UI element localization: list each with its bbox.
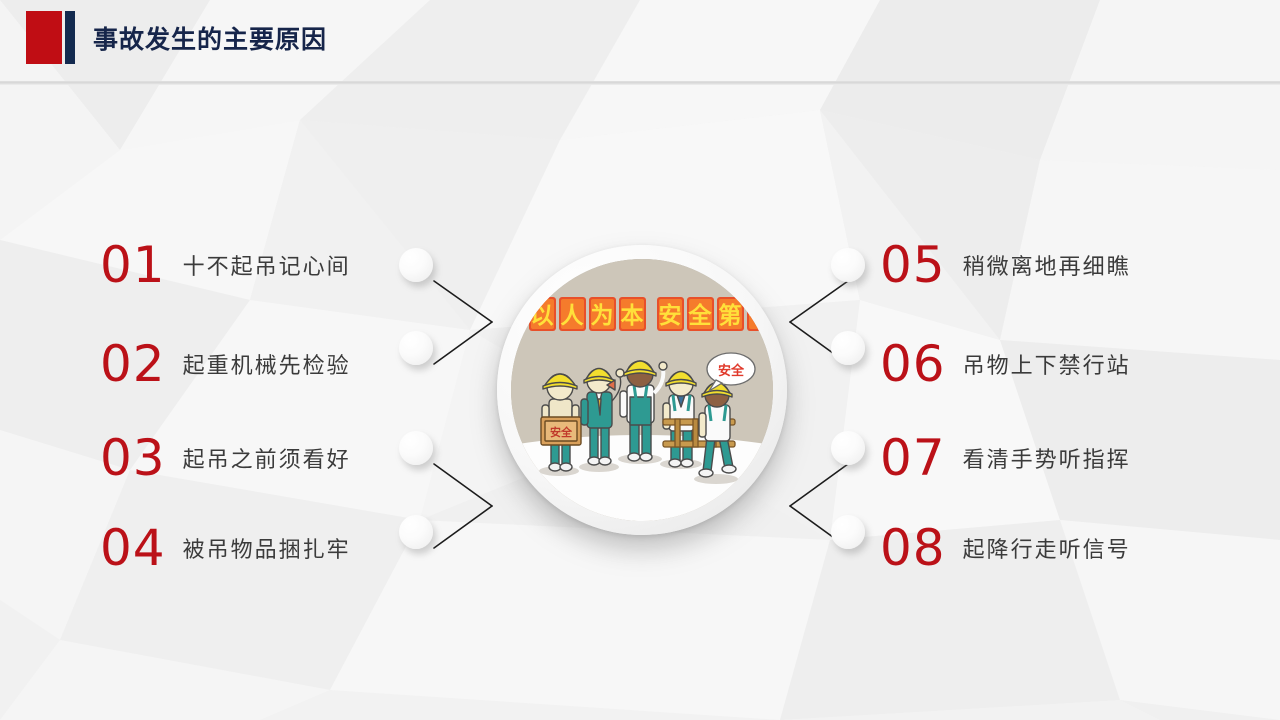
- bullet-node-04[interactable]: [399, 515, 433, 549]
- bullet-node-08[interactable]: [831, 515, 865, 549]
- item-number: 04: [100, 523, 166, 573]
- svg-text:本: 本: [621, 303, 644, 329]
- connector-line-04: [434, 506, 492, 548]
- connector-line-03: [434, 464, 492, 506]
- item-number: 08: [880, 523, 946, 573]
- svg-text:第: 第: [719, 302, 742, 329]
- bullet-node-07[interactable]: [831, 431, 865, 465]
- item-label: 起吊之前须看好: [183, 442, 351, 474]
- item-label: 起降行走听信号: [963, 532, 1131, 564]
- connector-line-02: [434, 322, 492, 364]
- svg-text:人: 人: [561, 303, 585, 329]
- connector-line-07: [790, 464, 848, 506]
- list-item-01[interactable]: 01 十不起吊记心间: [100, 232, 390, 298]
- item-number: 07: [880, 433, 946, 483]
- list-item-05[interactable]: 05 稍微离地再细瞧: [880, 232, 1180, 298]
- list-item-06[interactable]: 06 吊物上下禁行站: [880, 331, 1180, 397]
- svg-text:以: 以: [531, 303, 554, 329]
- item-label: 看清手势听指挥: [963, 442, 1131, 474]
- center-image-frame: 以 人 为 本 安 全 第 一: [511, 259, 773, 521]
- connector-line-05: [790, 281, 848, 322]
- item-number: 05: [880, 240, 946, 290]
- list-item-03[interactable]: 03 起吊之前须看好: [100, 425, 390, 491]
- item-number: 01: [100, 240, 166, 290]
- connector-line-01: [434, 281, 492, 322]
- list-item-02[interactable]: 02 起重机械先检验: [100, 331, 390, 397]
- list-item-08[interactable]: 08 起降行走听信号: [880, 515, 1180, 581]
- item-label: 稍微离地再细瞧: [963, 249, 1131, 281]
- item-label: 吊物上下禁行站: [963, 348, 1131, 380]
- svg-text:全: 全: [688, 302, 713, 329]
- bullet-node-03[interactable]: [399, 431, 433, 465]
- list-item-07[interactable]: 07 看清手势听指挥: [880, 425, 1180, 491]
- sign-text: 安全: [550, 425, 573, 439]
- bullet-node-02[interactable]: [399, 331, 433, 365]
- bullet-node-01[interactable]: [399, 248, 433, 282]
- center-medallion[interactable]: 以 人 为 本 安 全 第 一: [497, 245, 787, 535]
- item-label: 十不起吊记心间: [183, 249, 351, 281]
- item-label: 被吊物品捆扎牢: [183, 532, 351, 564]
- svg-text:一: 一: [749, 303, 772, 329]
- bullet-node-05[interactable]: [831, 248, 865, 282]
- item-number: 06: [880, 339, 946, 389]
- svg-text:为: 为: [591, 303, 614, 329]
- bubble-text: 安全: [718, 363, 745, 379]
- safety-illustration: 以 人 为 本 安 全 第 一: [511, 259, 773, 521]
- item-label: 起重机械先检验: [183, 348, 351, 380]
- svg-text:安: 安: [659, 302, 682, 329]
- bullet-node-06[interactable]: [831, 331, 865, 365]
- item-number: 03: [100, 433, 166, 483]
- list-item-04[interactable]: 04 被吊物品捆扎牢: [100, 515, 390, 581]
- slide-canvas: 事故发生的主要原因 01 十不起吊记心间 02 起重机械先检验 03 起吊之前须…: [0, 0, 1280, 720]
- item-number: 02: [100, 339, 166, 389]
